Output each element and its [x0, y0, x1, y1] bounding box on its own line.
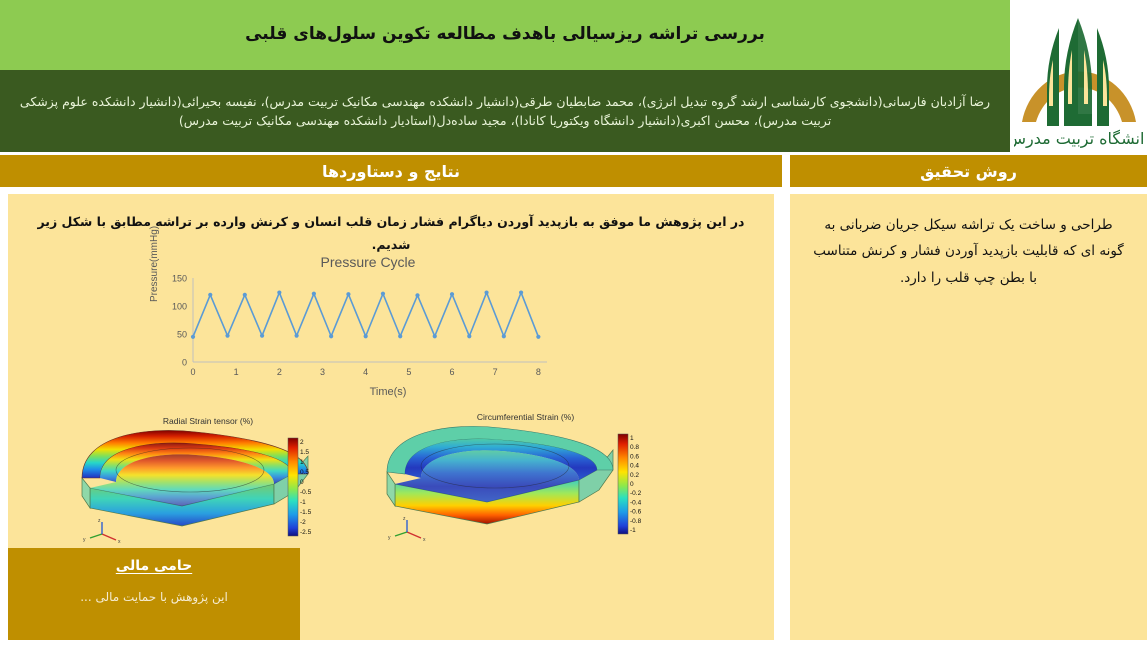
- svg-text:1: 1: [234, 367, 239, 377]
- university-logo-icon: دانشگاه تربیت مدرس: [1014, 2, 1144, 150]
- svg-text:7: 7: [493, 367, 498, 377]
- section-header-results: نتایج و دستاوردها: [0, 155, 782, 187]
- method-body-text: طراحی و ساخت یک تراشه سیکل جریان ضربانی …: [790, 194, 1147, 291]
- svg-text:y: y: [83, 537, 86, 543]
- svg-text:-0.4: -0.4: [630, 499, 642, 506]
- svg-text:0.6: 0.6: [630, 453, 639, 460]
- chart-plot-area: Pressure(mmHg) 050100150012345678: [153, 272, 583, 384]
- svg-text:2: 2: [277, 367, 282, 377]
- radial-strain-figure: Radial Strain tensor (%): [78, 416, 338, 551]
- radial-strain-caption: Radial Strain tensor (%): [78, 416, 338, 426]
- poster-root: بررسی تراشه ریزسیالی باهدف مطالعه تکوین …: [0, 0, 1147, 647]
- circumferential-strain-figure: Circumferential Strain (%): [383, 412, 668, 547]
- circumferential-strain-svg: x y z 10.80.60.40.20-0.2-0.4-0.6-0.8-1: [383, 426, 668, 548]
- svg-text:دانشگاه تربیت مدرس: دانشگاه تربیت مدرس: [1014, 129, 1144, 149]
- sponsor-text: این پژوهش با حمایت مالی ...: [26, 590, 282, 604]
- svg-text:x: x: [423, 537, 426, 543]
- svg-text:1: 1: [630, 435, 634, 442]
- svg-text:2: 2: [300, 439, 304, 446]
- svg-text:100: 100: [172, 302, 187, 312]
- svg-text:5: 5: [406, 367, 411, 377]
- svg-text:-0.6: -0.6: [630, 509, 642, 516]
- svg-text:1.5: 1.5: [300, 449, 309, 456]
- svg-text:0: 0: [190, 367, 195, 377]
- svg-text:0: 0: [630, 481, 634, 488]
- svg-text:0.2: 0.2: [630, 472, 639, 479]
- radial-strain-svg: x y z 21.510.50-0.5-1-1.5-2-2.5: [78, 430, 338, 548]
- svg-text:0: 0: [182, 358, 187, 368]
- svg-text:-1: -1: [300, 499, 306, 506]
- svg-text:0.5: 0.5: [300, 469, 309, 476]
- chart-x-axis-label: Time(s): [153, 386, 583, 398]
- circumferential-strain-caption: Circumferential Strain (%): [383, 412, 668, 422]
- chart-title: Pressure Cycle: [153, 254, 583, 270]
- svg-text:-0.2: -0.2: [630, 490, 642, 497]
- results-intro-text: در این پژوهش ما موفق به بازپدید آوردن دی…: [8, 194, 774, 256]
- title-banner: بررسی تراشه ریزسیالی باهدف مطالعه تکوین …: [0, 0, 1010, 70]
- results-panel: در این پژوهش ما موفق به بازپدید آوردن دی…: [8, 194, 774, 640]
- svg-text:-2.5: -2.5: [300, 529, 312, 536]
- svg-text:3: 3: [320, 367, 325, 377]
- svg-text:z: z: [98, 518, 101, 524]
- svg-text:x: x: [118, 539, 121, 545]
- svg-text:0.8: 0.8: [630, 444, 639, 451]
- method-panel: طراحی و ساخت یک تراشه سیکل جریان ضربانی …: [790, 194, 1147, 640]
- svg-text:4: 4: [363, 367, 368, 377]
- svg-text:50: 50: [177, 330, 187, 340]
- svg-text:1: 1: [300, 459, 304, 466]
- svg-text:-0.8: -0.8: [630, 518, 642, 525]
- svg-text:0.4: 0.4: [630, 463, 639, 470]
- chart-svg: 050100150012345678: [153, 272, 553, 384]
- section-header-method-label: روش تحقیق: [920, 162, 1017, 181]
- university-logo: دانشگاه تربیت مدرس: [1010, 0, 1147, 152]
- svg-text:8: 8: [536, 367, 541, 377]
- svg-text:150: 150: [172, 274, 187, 284]
- sponsor-box: حامی مالی این پژوهش با حمایت مالی ...: [8, 548, 300, 640]
- axis-triad-icon: x y z: [388, 516, 426, 543]
- svg-text:-0.5: -0.5: [300, 489, 312, 496]
- authors-band: رضا آزادبان فارسانی(دانشجوی کارشناسی ارش…: [0, 70, 1010, 152]
- section-header-method: روش تحقیق: [790, 155, 1147, 187]
- svg-text:y: y: [388, 535, 391, 541]
- svg-text:-1.5: -1.5: [300, 509, 312, 516]
- svg-text:0: 0: [300, 479, 304, 486]
- svg-text:-2: -2: [300, 519, 306, 526]
- section-header-results-label: نتایج و دستاوردها: [322, 162, 460, 181]
- chart-y-axis-label: Pressure(mmHg): [149, 226, 160, 302]
- sponsor-title: حامی مالی: [26, 558, 282, 574]
- axis-triad-icon: x y z: [83, 518, 121, 545]
- svg-text:-1: -1: [630, 527, 636, 534]
- authors-list: رضا آزادبان فارسانی(دانشجوی کارشناسی ارش…: [14, 92, 996, 131]
- pressure-cycle-chart: Pressure Cycle Pressure(mmHg) 0501001500…: [153, 254, 583, 404]
- svg-text:6: 6: [450, 367, 455, 377]
- svg-text:z: z: [403, 516, 406, 522]
- page-title: بررسی تراشه ریزسیالی باهدف مطالعه تکوین …: [205, 23, 805, 47]
